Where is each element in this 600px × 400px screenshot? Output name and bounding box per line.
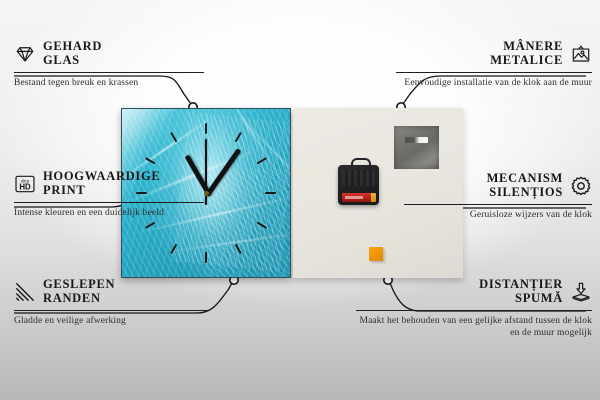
callout-gehard-glas: GEHARDGLAS Bestand tegen breuk en krasse… (14, 40, 204, 89)
callout-title: HOOGWAARDIGEPRINT (43, 170, 160, 197)
callout-header: MÂNEREMETALICE (396, 40, 592, 67)
callout-header: GEHARDGLAS (14, 40, 204, 67)
callout-title: MECANISMSILENȚIOS (487, 172, 563, 199)
callout-description: Bestand tegen breuk en krassen (14, 77, 204, 89)
callout-rule (404, 204, 592, 205)
movement-hanging-loop (351, 158, 371, 169)
callout-description: Intense kleuren en een duidelijk beeld (14, 207, 204, 219)
callout-rule (14, 202, 204, 203)
clock-tick (235, 244, 242, 255)
movement-ribbing (342, 170, 375, 186)
clock-tick (265, 192, 276, 194)
callout-hoogwaardige-print: ultra HD HOOGWAARDIGEPRINT Intense kleur… (14, 170, 204, 219)
hanger-slot (405, 137, 428, 143)
clock-tick (170, 244, 177, 255)
clock-tick (170, 132, 177, 143)
diamond-icon (14, 43, 36, 65)
clock-tick (205, 123, 207, 134)
clock-tick (257, 222, 268, 229)
infographic-canvas: GEHARDGLAS Bestand tegen breuk en krasse… (0, 0, 600, 400)
callout-geslepen-randen: GESLEPENRANDEN Gladde en veilige afwerki… (14, 278, 210, 327)
metal-hanger-plate (394, 126, 439, 169)
callout-header: GESLEPENRANDEN (14, 278, 210, 305)
battery-terminal (371, 193, 376, 202)
callout-rule (356, 310, 592, 311)
callout-header: DISTANȚIERSPUMĂ (356, 278, 592, 305)
foam-spacer (369, 247, 383, 261)
callout-title: GESLEPENRANDEN (43, 278, 115, 305)
callout-title: GEHARDGLAS (43, 40, 102, 67)
callout-description: Eenvoudige installatie van de klok aan d… (396, 77, 592, 89)
clock-center-pivot (204, 191, 209, 196)
press-down-pad-icon (570, 281, 592, 303)
hanging-frame-icon (570, 43, 592, 65)
ultra-hd-icon: ultra HD (14, 173, 36, 195)
callout-header: MECANISMSILENȚIOS (404, 172, 592, 199)
quartz-movement-box (338, 165, 379, 205)
clock-tick (205, 252, 207, 263)
gear-icon (570, 175, 592, 197)
callout-mecanism-silentios: MECANISMSILENȚIOS Geruisloze wijzers van… (404, 172, 592, 221)
callout-title: MÂNEREMETALICE (490, 40, 563, 67)
clock-tick (235, 132, 242, 143)
callout-title: DISTANȚIERSPUMĂ (479, 278, 563, 305)
beveled-edges-icon (14, 281, 36, 303)
battery-label (345, 196, 363, 199)
clock-tick (145, 222, 156, 229)
callout-rule (14, 310, 210, 311)
callout-description: Gladde en veilige afwerking (14, 315, 210, 327)
clock-tick (257, 157, 268, 164)
clock-tick (145, 157, 156, 164)
callout-rule (396, 72, 592, 73)
callout-description: Geruisloze wijzers van de klok (404, 209, 592, 221)
callout-rule (14, 72, 204, 73)
callout-manere-metalice: MÂNEREMETALICE Eenvoudige installatie va… (396, 40, 592, 89)
callout-header: ultra HD HOOGWAARDIGEPRINT (14, 170, 204, 197)
callout-distantier-spuma: DISTANȚIERSPUMĂ Maakt het behouden van e… (356, 278, 592, 339)
ultra-hd-icon-bottom: HD (19, 182, 31, 191)
battery (342, 193, 375, 202)
callout-description: Maakt het behouden van een gelijke afsta… (356, 315, 592, 339)
